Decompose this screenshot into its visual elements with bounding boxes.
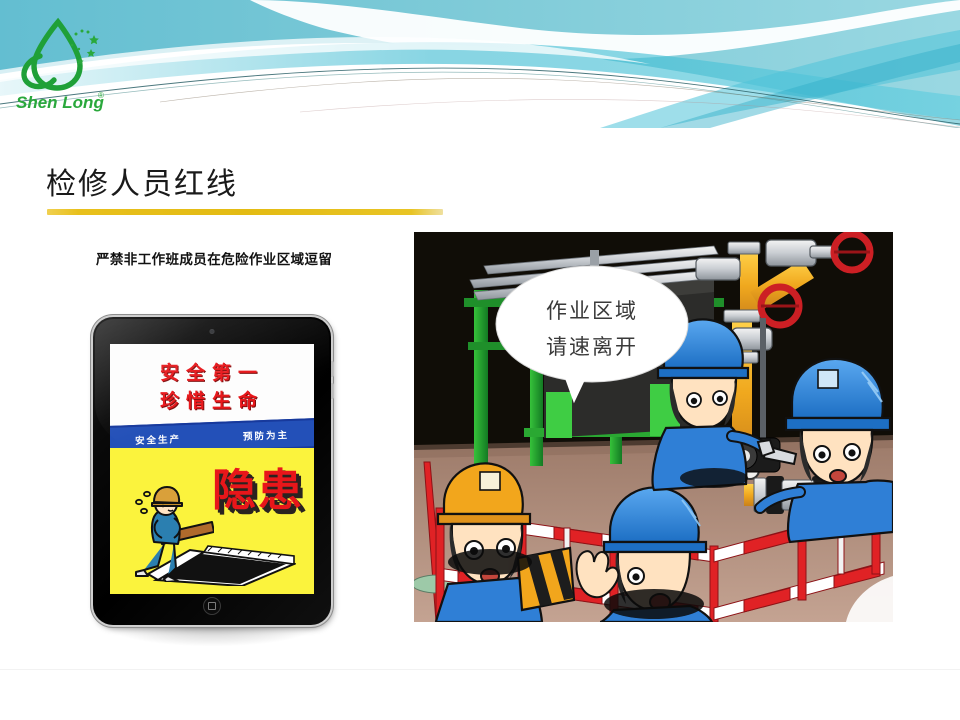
- tablet-volume-down-button[interactable]: [331, 383, 334, 399]
- speech-bubble-line2: 请速离开: [546, 336, 638, 359]
- poster-ribbon-right: 预防为主: [243, 427, 290, 443]
- slide-bottom-divider: [0, 669, 960, 670]
- header-banner: [0, 0, 960, 128]
- illustration-graphic: 作业区域 请速离开: [414, 232, 893, 622]
- tablet-device: 安全第一 珍惜生命 安全生产 预防为主 隐患: [93, 317, 331, 625]
- tablet-screen[interactable]: 安全第一 珍惜生命 安全生产 预防为主 隐患: [110, 344, 314, 594]
- subtitle-text: 严禁非工作班成员在危险作业区域逗留: [96, 250, 386, 269]
- logo-wordmark: Shen Long: [16, 93, 104, 112]
- title-underline-rule: [47, 209, 443, 215]
- safety-poster: 安全第一 珍惜生命 安全生产 预防为主 隐患: [110, 344, 314, 594]
- work-area-barrier-illustration: 作业区域 请速离开: [414, 232, 893, 622]
- worker-figure-graphic: [128, 482, 214, 582]
- poster-headline-line2: 珍惜生命: [110, 386, 314, 413]
- logo-graphic: Shen Long ®: [10, 16, 114, 114]
- poster-illustration-area: 隐患: [110, 448, 314, 594]
- slide: Shen Long ® 检修人员红线 严禁非工作班成员在危险作业区域逗留 安全第…: [0, 0, 960, 720]
- registered-mark-icon: ®: [98, 91, 104, 100]
- tablet-reflection: [105, 624, 319, 646]
- tablet-camera-icon: [210, 329, 215, 334]
- banner-waves-graphic: [0, 0, 960, 128]
- page-title: 检修人员红线: [46, 168, 238, 202]
- shen-long-logo: Shen Long ®: [10, 16, 114, 114]
- poster-ribbon-left: 安全生产: [135, 431, 182, 447]
- tablet-home-button[interactable]: [203, 597, 221, 615]
- tablet-volume-up-button[interactable]: [331, 361, 334, 377]
- poster-headline-line1: 安全第一: [110, 358, 314, 385]
- poster-big-word: 隐患: [212, 454, 304, 518]
- speech-bubble-line1: 作业区域: [546, 300, 638, 323]
